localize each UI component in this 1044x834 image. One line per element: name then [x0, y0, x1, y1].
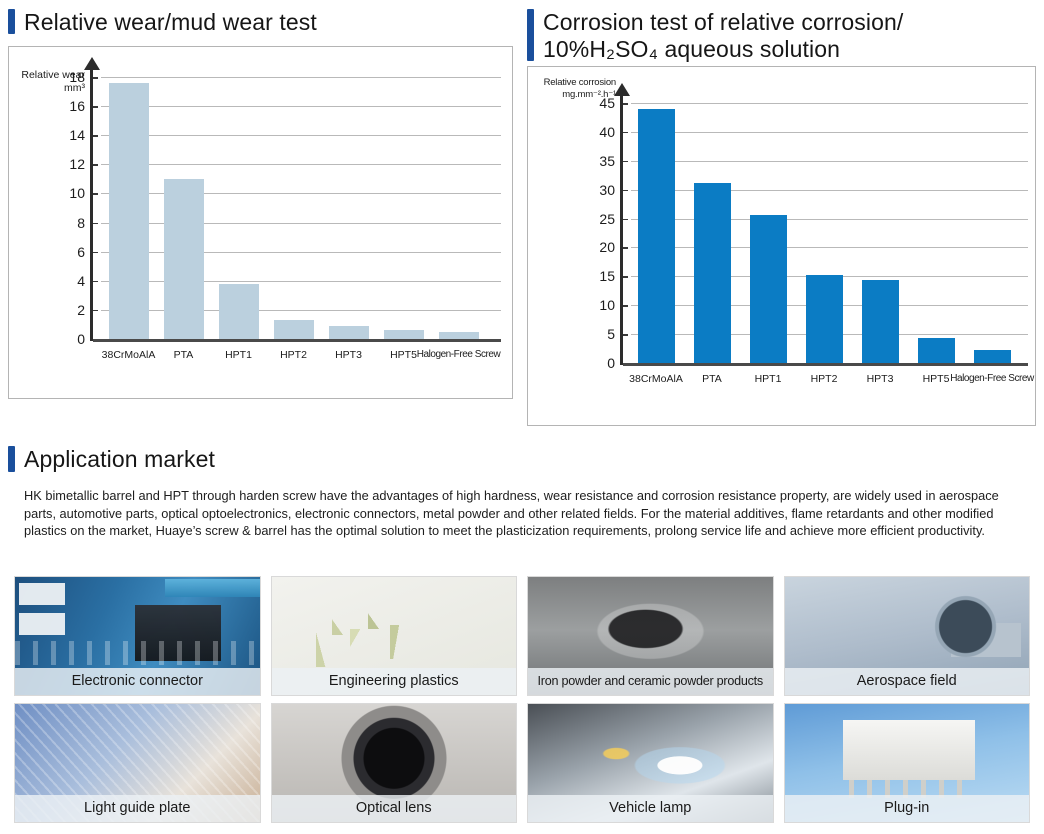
y-axis-tick — [93, 106, 98, 108]
y-axis-label: 8 — [45, 215, 85, 231]
wear-section-heading: Relative wear/mud wear test — [8, 9, 513, 36]
grid-line — [631, 161, 1028, 162]
bar-pta — [164, 179, 204, 339]
gallery-tile[interactable]: Optical lens — [271, 703, 518, 823]
y-axis-tick — [623, 334, 628, 336]
y-axis-tick — [623, 190, 628, 192]
y-axis-label: 14 — [45, 127, 85, 143]
gallery-tile[interactable]: Light guide plate — [14, 703, 261, 823]
y-axis-label: 6 — [45, 244, 85, 260]
y-axis-label: 0 — [575, 355, 615, 371]
application-description: HK bimetallic barrel and HPT through har… — [8, 487, 1032, 540]
gallery-caption: Light guide plate — [15, 795, 260, 822]
corrosion-section-title-line2: 10%H₂SO₄ aqueous solution — [543, 36, 903, 63]
y-axis-label: 16 — [45, 98, 85, 114]
y-axis-label: 12 — [45, 156, 85, 172]
y-axis-label: 30 — [575, 182, 615, 198]
gallery-tile[interactable]: Vehicle lamp — [527, 703, 774, 823]
y-axis-tick — [93, 252, 98, 254]
y-axis-label: 25 — [575, 211, 615, 227]
grid-line — [631, 132, 1028, 133]
corrosion-section-title-line1: Corrosion test of relative corrosion/ — [543, 9, 903, 36]
y-axis-tick — [93, 135, 98, 137]
y-axis-label: 15 — [575, 268, 615, 284]
x-axis-line — [93, 339, 501, 342]
grid-line — [101, 193, 501, 194]
y-axis-line — [90, 69, 93, 341]
corrosion-plot-area: Relative corrosion mg.mm⁻².h⁻¹ 051015202… — [528, 67, 1035, 425]
bar-hpt2 — [806, 275, 843, 363]
grid-line — [101, 223, 501, 224]
accent-bar-icon — [8, 9, 15, 34]
wear-section-title: Relative wear/mud wear test — [24, 9, 317, 36]
y-axis-label: 2 — [45, 302, 85, 318]
gallery-caption: Engineering plastics — [272, 668, 517, 695]
gallery-tile[interactable]: Engineering plastics — [271, 576, 518, 696]
application-gallery: Electronic connectorEngineering plastics… — [14, 576, 1030, 823]
y-axis-label: 45 — [575, 95, 615, 111]
bar-38crmoala — [109, 83, 149, 339]
grid-line — [101, 77, 501, 78]
x-axis-label: Halogen-Free Screw — [404, 349, 514, 360]
y-axis-tick — [623, 132, 628, 134]
y-axis-tick — [623, 103, 628, 105]
y-axis-tick — [93, 310, 98, 312]
bar-hpt5 — [384, 330, 424, 339]
gallery-tile[interactable]: Iron powder and ceramic powder products — [527, 576, 774, 696]
grid-line — [101, 164, 501, 165]
x-axis-line — [623, 363, 1028, 366]
gallery-caption: Aerospace field — [785, 668, 1030, 695]
bar-hpt2 — [274, 320, 314, 339]
gallery-caption: Iron powder and ceramic powder products — [528, 668, 773, 695]
y-axis-tick — [93, 77, 98, 79]
grid-line — [631, 103, 1028, 104]
y-axis-line — [620, 95, 623, 365]
bar-hpt3 — [329, 326, 369, 339]
corrosion-chart-panel: Relative corrosion mg.mm⁻².h⁻¹ 051015202… — [527, 66, 1036, 426]
y-axis-tick — [623, 161, 628, 163]
gallery-caption: Vehicle lamp — [528, 795, 773, 822]
grid-line — [631, 219, 1028, 220]
gallery-caption: Electronic connector — [15, 668, 260, 695]
y-axis-tick — [93, 164, 98, 166]
gallery-tile[interactable]: Electronic connector — [14, 576, 261, 696]
application-section-heading: Application market — [8, 446, 1032, 473]
accent-bar-icon — [527, 9, 534, 61]
gallery-tile[interactable]: Aerospace field — [784, 576, 1031, 696]
accent-bar-icon — [8, 446, 15, 472]
bar-halogen-free-screw — [439, 332, 479, 339]
grid-line — [101, 252, 501, 253]
y-axis-label: 4 — [45, 273, 85, 289]
y-axis-label: 5 — [575, 326, 615, 342]
bar-38crmoala — [638, 109, 675, 363]
y-axis-tick — [623, 305, 628, 307]
grid-line — [631, 190, 1028, 191]
charts-row: Relative wear/mud wear test Relative wea… — [0, 0, 1044, 426]
x-axis-label: Halogen-Free Screw — [936, 373, 1044, 384]
y-axis-tick — [623, 247, 628, 249]
y-axis-label: 20 — [575, 239, 615, 255]
bar-hpt3 — [862, 280, 899, 363]
y-axis-label: 10 — [575, 297, 615, 313]
wear-plot-area: Relative wear mm³ 02468101214161838CrMoA… — [9, 47, 512, 398]
y-axis-label: 18 — [45, 69, 85, 85]
y-axis-label: 10 — [45, 185, 85, 201]
y-axis-label: 40 — [575, 124, 615, 140]
gallery-tile[interactable]: Plug-in — [784, 703, 1031, 823]
grid-line — [101, 106, 501, 107]
y-axis-tick — [623, 219, 628, 221]
gallery-caption: Plug-in — [785, 795, 1030, 822]
y-axis-label: 0 — [45, 331, 85, 347]
application-market-section: Application market HK bimetallic barrel … — [0, 426, 1044, 540]
bar-pta — [694, 183, 731, 363]
bar-hpt5 — [918, 338, 955, 363]
gallery-caption: Optical lens — [272, 795, 517, 822]
bar-halogen-free-screw — [974, 350, 1011, 363]
y-axis-tick — [93, 193, 98, 195]
grid-line — [631, 247, 1028, 248]
wear-chart-panel: Relative wear mm³ 02468101214161838CrMoA… — [8, 46, 513, 399]
y-axis-tick — [93, 281, 98, 283]
wear-chart-section: Relative wear/mud wear test Relative wea… — [8, 9, 513, 426]
grid-line — [101, 135, 501, 136]
y-axis-label: 35 — [575, 153, 615, 169]
application-section-title: Application market — [24, 446, 215, 473]
bar-hpt1 — [219, 284, 259, 339]
grid-line — [101, 310, 501, 311]
corrosion-chart-section: Corrosion test of relative corrosion/ 10… — [527, 9, 1036, 426]
y-axis-tick — [93, 223, 98, 225]
corrosion-section-heading: Corrosion test of relative corrosion/ 10… — [527, 9, 1036, 63]
grid-line — [101, 281, 501, 282]
y-axis-tick — [623, 276, 628, 278]
bar-hpt1 — [750, 215, 787, 363]
